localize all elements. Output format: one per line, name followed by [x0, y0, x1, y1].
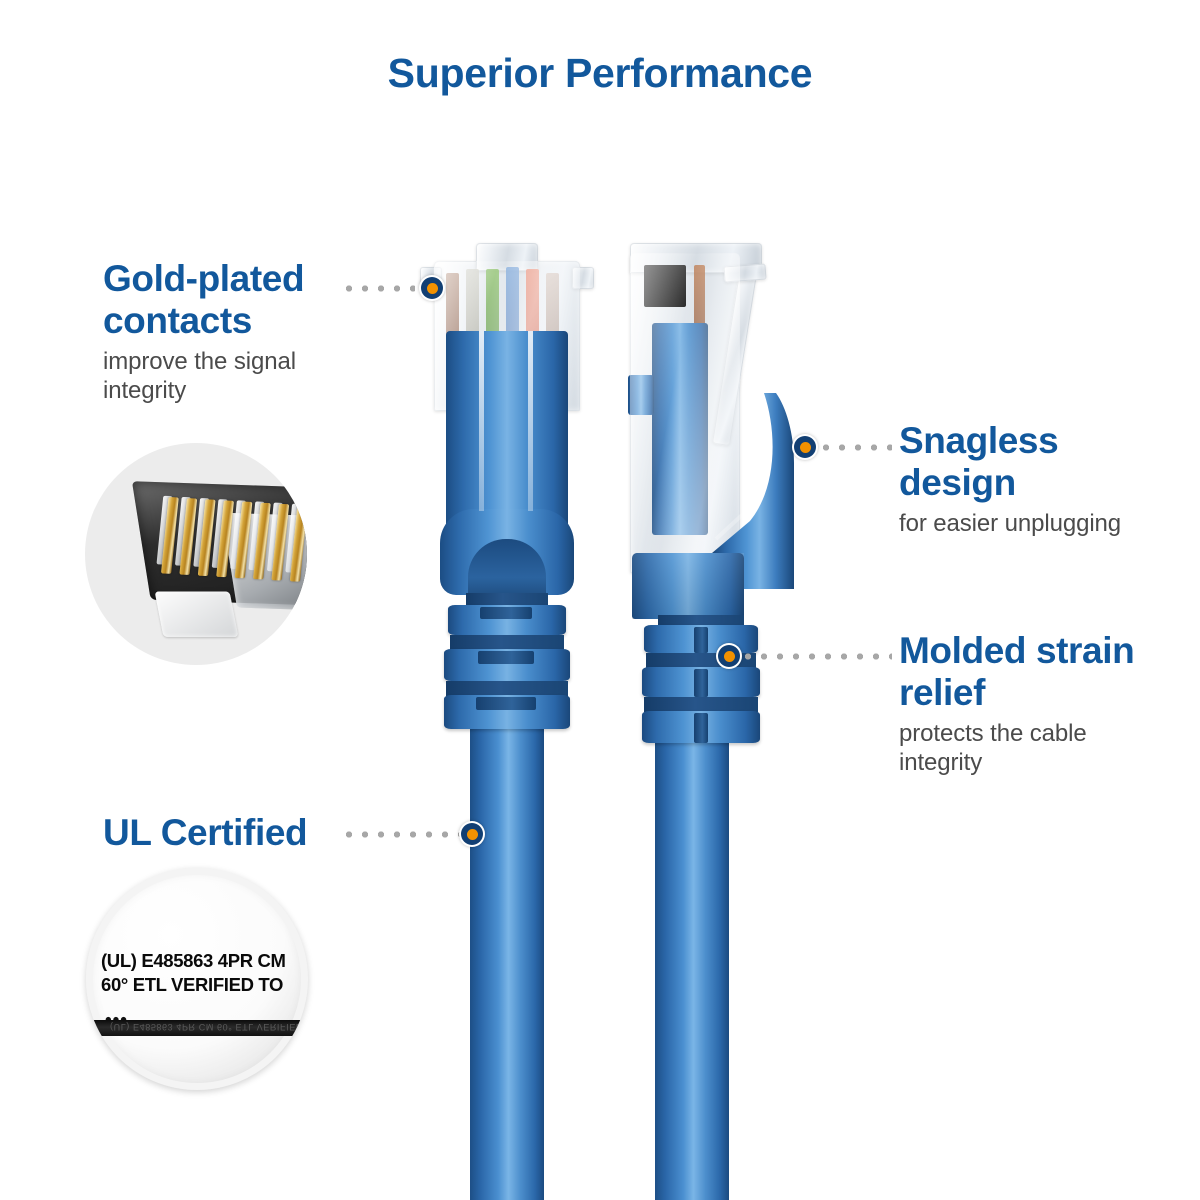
- callout-subtext: for easier unplugging: [899, 509, 1149, 538]
- callout-molded-strain-relief: Molded strain relief protects the cable …: [899, 630, 1149, 777]
- plug-photo-group: [123, 445, 307, 665]
- orange-dot-marker-snagless[interactable]: [792, 434, 818, 460]
- callout-snagless-design: Snagless design for easier unplugging: [899, 420, 1149, 538]
- boot-base-shade: [632, 553, 744, 619]
- orange-dot-marker-molded[interactable]: [716, 643, 742, 669]
- contact-window: [644, 265, 686, 307]
- boot-tab-side: [628, 375, 654, 415]
- leader-line-snagless: [818, 444, 892, 451]
- boot-channel-2: [528, 331, 533, 511]
- rj45-gold-contacts-photo: [85, 443, 307, 665]
- callout-heading: Snagless design: [899, 420, 1149, 504]
- callout-gold-plated-contacts: Gold-plated contacts improve the signal …: [103, 258, 353, 405]
- rj45-connector-side: [612, 243, 822, 713]
- housing-wing-right: [572, 267, 594, 289]
- callout-heading: Gold-plated contacts: [103, 258, 353, 342]
- page-title: Superior Performance: [0, 50, 1200, 97]
- orange-dot-marker-gold[interactable]: [419, 275, 445, 301]
- boot-core-side: [652, 323, 708, 535]
- ul-print-line-1: (UL) E485863 4PR CM: [101, 949, 301, 974]
- callout-ul-certified: UL Certified: [103, 812, 363, 854]
- ul-print-band-text: (UL) E485863 4PR CM 60° ETL VERIFIED TO: [110, 1022, 308, 1032]
- leader-line-ul: [341, 831, 461, 838]
- boot-channel-1: [479, 331, 484, 511]
- cable-jacket-left: [470, 690, 544, 1200]
- plug-retention-tab: [155, 591, 239, 637]
- strain-relief-side: [632, 615, 782, 775]
- callout-subtext: improve the signal integrity: [103, 347, 353, 406]
- ul-print-magnifier: (UL) E485863 4PR CM 60° ETL VERIFIED TO …: [86, 868, 308, 1090]
- callout-subtext: protects the cable integrity: [899, 719, 1149, 778]
- rj45-connector-front: [416, 243, 598, 713]
- strain-relief-front: [434, 593, 580, 753]
- orange-dot-marker-ul[interactable]: [459, 821, 485, 847]
- leader-line-gold: [341, 285, 415, 292]
- callout-heading: UL Certified: [103, 812, 363, 854]
- callout-heading: Molded strain relief: [899, 630, 1149, 714]
- ul-print-line-2: 60° ETL VERIFIED TO: [101, 973, 301, 998]
- leader-line-molded: [740, 653, 892, 660]
- latch-clip-hinge: [723, 264, 766, 283]
- infographic-canvas: Superior Performance: [0, 0, 1200, 1200]
